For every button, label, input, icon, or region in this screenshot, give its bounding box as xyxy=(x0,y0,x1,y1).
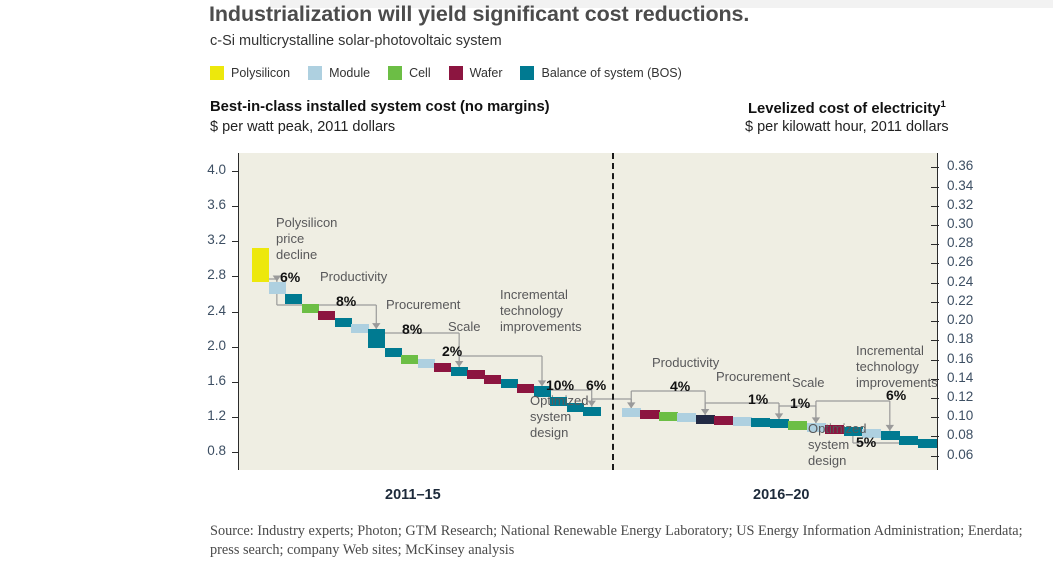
waterfall-bar xyxy=(401,355,418,364)
callout-label: Procurement xyxy=(716,369,790,385)
right-axis-tick xyxy=(931,263,939,264)
waterfall-bar xyxy=(484,375,501,384)
waterfall-bar xyxy=(335,318,352,327)
legend-label-module: Module xyxy=(329,66,370,80)
page-subtitle: c-Si multicrystalline solar-photovoltaic… xyxy=(210,33,502,49)
waterfall-bar xyxy=(302,304,319,313)
source-note: Source: Industry experts; Photon; GTM Re… xyxy=(210,522,1040,560)
right-axis-tick-label: 0.32 xyxy=(947,197,973,212)
right-panel-heading-text: Levelized cost of electricity xyxy=(748,101,940,117)
right-axis-line xyxy=(937,153,938,470)
waterfall-bar xyxy=(368,329,385,348)
right-axis-tick xyxy=(931,302,939,303)
right-axis-tick-label: 0.20 xyxy=(947,312,973,327)
waterfall-bar xyxy=(418,359,435,368)
callout-label: technology xyxy=(500,303,563,319)
legend-swatch-polysilicon-icon xyxy=(210,66,224,80)
chart-legend: Polysilicon Module Cell Wafer Balance of… xyxy=(210,65,700,81)
left-axis-tick-label: 0.8 xyxy=(180,443,226,458)
callout-percent: 2% xyxy=(442,343,462,359)
callout-percent: 10% xyxy=(546,377,574,393)
left-panel-subheading: $ per watt peak, 2011 dollars xyxy=(210,119,395,135)
legend-item-cell: Cell xyxy=(388,66,431,80)
right-axis-tick xyxy=(931,340,939,341)
right-axis-tick xyxy=(931,436,939,437)
callout-label: Productivity xyxy=(320,269,387,285)
legend-swatch-module-icon xyxy=(308,66,322,80)
left-axis-tick-label: 3.6 xyxy=(180,197,226,212)
right-axis-tick-label: 0.08 xyxy=(947,427,973,442)
right-axis-tick xyxy=(931,244,939,245)
callout-label: system xyxy=(530,409,571,425)
waterfall-bar xyxy=(351,324,368,333)
right-axis-tick-label: 0.30 xyxy=(947,216,973,231)
legend-label-bos: Balance of system (BOS) xyxy=(541,66,681,80)
callout-label: Incremental xyxy=(856,343,924,359)
right-axis-tick-label: 0.14 xyxy=(947,370,973,385)
left-axis-tick-label: 2.0 xyxy=(180,338,226,353)
callout-label: Productivity xyxy=(652,355,719,371)
waterfall-bar xyxy=(733,417,752,426)
callout-percent: 8% xyxy=(336,293,356,309)
waterfall-bar xyxy=(714,416,733,425)
callout-label: improvements xyxy=(500,319,582,335)
waterfall-bar xyxy=(640,410,659,419)
waterfall-bar xyxy=(467,370,484,379)
right-axis-tick-label: 0.22 xyxy=(947,293,973,308)
waterfall-bar xyxy=(451,367,468,376)
waterfall-bar xyxy=(770,419,789,428)
callout-label: technology xyxy=(856,359,919,375)
right-axis-tick xyxy=(931,398,939,399)
right-axis-tick xyxy=(931,456,939,457)
callout-label: Incremental xyxy=(500,287,568,303)
left-panel-heading: Best-in-class installed system cost (no … xyxy=(210,99,550,115)
callout-percent: 6% xyxy=(586,377,606,393)
right-axis-tick-label: 0.34 xyxy=(947,178,973,193)
left-axis-tick xyxy=(232,241,239,242)
waterfall-bar xyxy=(385,348,402,357)
right-axis-tick-label: 0.24 xyxy=(947,274,973,289)
left-axis-tick xyxy=(232,452,239,453)
left-axis-tick-label: 3.2 xyxy=(180,232,226,247)
right-axis-tick-label: 0.18 xyxy=(947,331,973,346)
callout-percent: 6% xyxy=(886,387,906,403)
callout-label: decline xyxy=(276,247,317,263)
right-axis-tick-label: 0.26 xyxy=(947,254,973,269)
left-axis-tick-label: 1.2 xyxy=(180,408,226,423)
left-axis-tick-label: 2.8 xyxy=(180,267,226,282)
right-axis-tick-label: 0.16 xyxy=(947,351,973,366)
legend-swatch-bos-icon xyxy=(520,66,534,80)
waterfall-bar xyxy=(659,412,678,421)
legend-label-wafer: Wafer xyxy=(470,66,503,80)
callout-percent: 1% xyxy=(790,395,810,411)
callout-label: Procurement xyxy=(386,297,460,313)
legend-swatch-wafer-icon xyxy=(449,66,463,80)
waterfall-bar xyxy=(788,421,807,430)
waterfall-bar xyxy=(252,248,269,281)
left-axis-tick-label: 1.6 xyxy=(180,373,226,388)
right-axis-tick xyxy=(931,225,939,226)
left-axis-tick xyxy=(232,347,239,348)
right-axis-tick xyxy=(931,206,939,207)
callout-percent: 4% xyxy=(670,378,690,394)
callout-label: system xyxy=(808,437,849,453)
x-axis-category-label: 2016–20 xyxy=(753,487,809,503)
callout-percent: 5% xyxy=(856,434,876,450)
callout-label: Polysilicon xyxy=(276,215,337,231)
right-axis-tick xyxy=(931,283,939,284)
waterfall-bar xyxy=(622,408,641,417)
right-axis-tick-label: 0.12 xyxy=(947,389,973,404)
callout-label: Optimized xyxy=(530,393,589,409)
waterfall-bar xyxy=(501,379,518,388)
waterfall-bar xyxy=(696,415,715,424)
left-axis-tick xyxy=(232,312,239,313)
exhibit-page: Industrialization will yield significant… xyxy=(0,0,1053,571)
x-axis-category-label: 2011–15 xyxy=(385,487,441,503)
waterfall-bar xyxy=(918,439,937,448)
left-axis-tick xyxy=(232,276,239,277)
waterfall-bar xyxy=(677,413,696,422)
left-axis-tick xyxy=(232,206,239,207)
right-panel-heading-footnote-marker: 1 xyxy=(940,99,945,110)
right-axis-tick-label: 0.28 xyxy=(947,235,973,250)
legend-item-polysilicon: Polysilicon xyxy=(210,66,290,80)
waterfall-plot-area: 4.03.63.22.82.42.01.61.20.80.360.340.320… xyxy=(238,153,938,470)
callout-label: price xyxy=(276,231,304,247)
legend-swatch-cell-icon xyxy=(388,66,402,80)
right-axis-tick xyxy=(931,187,939,188)
left-axis-tick-label: 4.0 xyxy=(180,162,226,177)
right-axis-tick xyxy=(931,321,939,322)
legend-item-bos: Balance of system (BOS) xyxy=(520,66,681,80)
right-axis-tick-label: 0.10 xyxy=(947,408,973,423)
legend-label-cell: Cell xyxy=(409,66,431,80)
callout-label: design xyxy=(808,453,846,469)
callout-percent: 8% xyxy=(402,321,422,337)
right-axis-tick xyxy=(931,167,939,168)
left-axis-tick-label: 2.4 xyxy=(180,303,226,318)
left-axis-tick xyxy=(232,382,239,383)
left-axis-tick xyxy=(232,417,239,418)
callout-label: Scale xyxy=(448,319,481,335)
waterfall-bar xyxy=(517,384,534,393)
left-axis-tick xyxy=(232,171,239,172)
right-axis-tick-label: 0.36 xyxy=(947,158,973,173)
right-axis-tick-label: 0.06 xyxy=(947,447,973,462)
right-panel-heading: Levelized cost of electricity1 xyxy=(748,99,946,117)
callout-percent: 6% xyxy=(280,269,300,285)
callout-label: Scale xyxy=(792,375,825,391)
waterfall-bar xyxy=(285,294,302,304)
waterfall-bar xyxy=(899,436,918,445)
legend-item-wafer: Wafer xyxy=(449,66,503,80)
callout-label: design xyxy=(530,425,568,441)
right-axis-tick xyxy=(931,360,939,361)
legend-item-module: Module xyxy=(308,66,370,80)
period-divider xyxy=(612,153,614,470)
legend-label-polysilicon: Polysilicon xyxy=(231,66,290,80)
callout-percent: 1% xyxy=(748,391,768,407)
waterfall-bar xyxy=(318,311,335,320)
waterfall-bar xyxy=(434,363,451,372)
waterfall-bar xyxy=(881,431,900,440)
right-axis-tick xyxy=(931,417,939,418)
right-panel-subheading: $ per kilowatt hour, 2011 dollars xyxy=(745,119,949,135)
waterfall-bar xyxy=(751,418,770,427)
page-title: Industrialization will yield significant… xyxy=(209,2,1009,27)
